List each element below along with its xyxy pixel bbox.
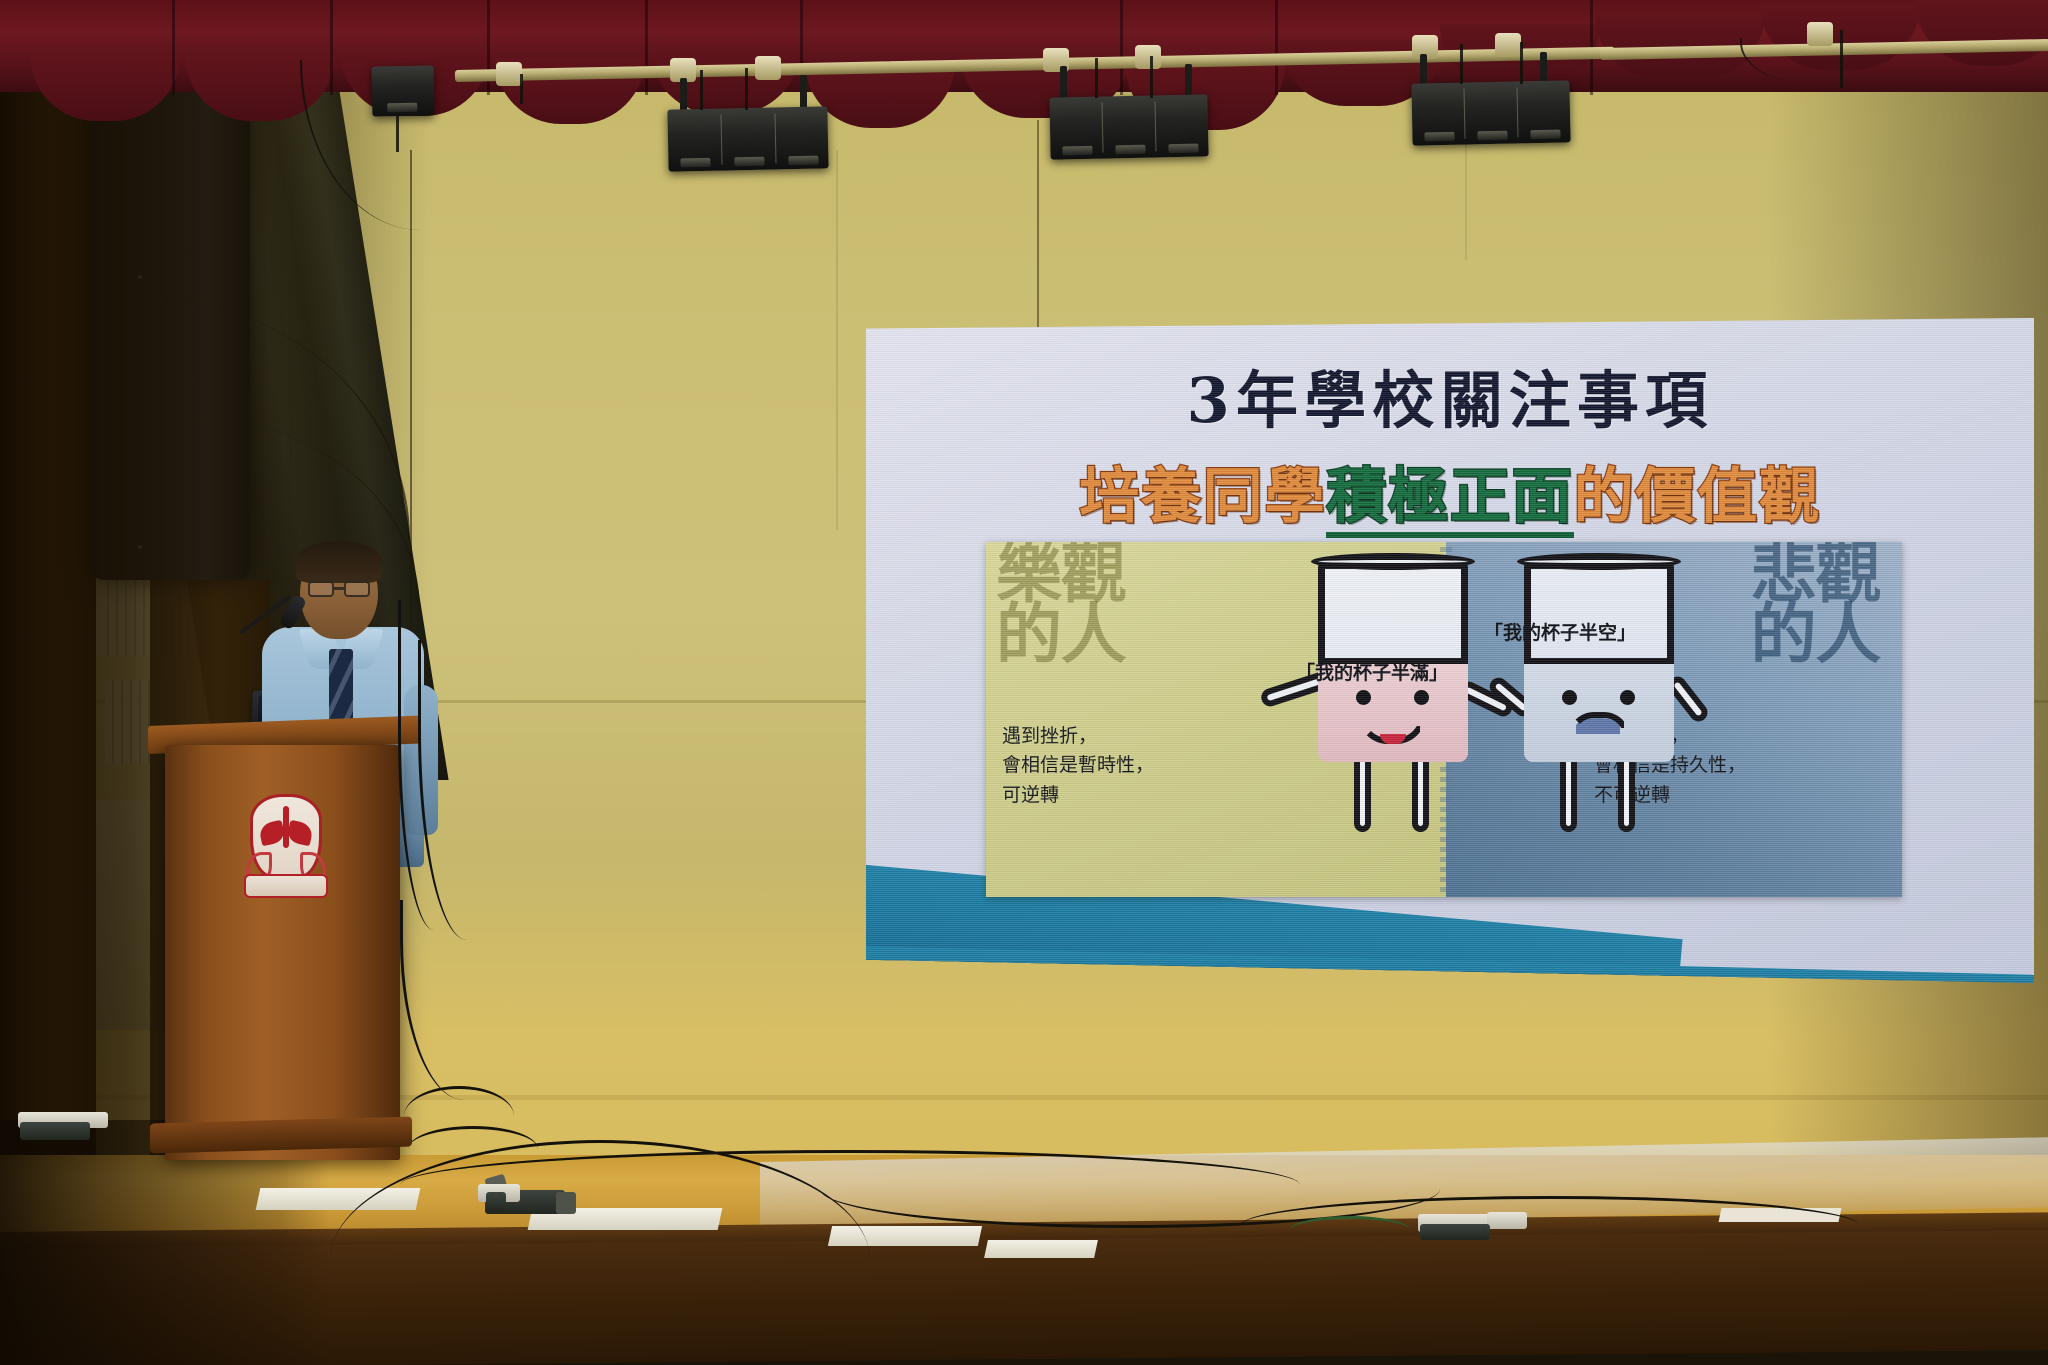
optimist-caption: 遇到挫折， 會相信是暫時性， 可逆轉 xyxy=(1002,722,1154,810)
slide-subtitle: 培養同學積極正面的價值觀 xyxy=(866,448,2034,535)
lecture-hall-photo: 3年學校關注事項 培養同學積極正面的價值觀 樂觀 的人 xyxy=(0,0,2048,1365)
glass-rim xyxy=(1311,553,1475,570)
subtitle-highlight: 積極正面 xyxy=(1326,462,1573,538)
optimist-caption-line3: 可逆轉 xyxy=(1002,781,1154,810)
optimist-glass-character: 「我的杯子半滿」 xyxy=(1318,562,1468,762)
optimist-quote: 「我的杯子半滿」 xyxy=(1296,658,1448,685)
equipment-box xyxy=(20,1122,90,1140)
water-line xyxy=(1524,658,1674,762)
optimist-caption-line1: 遇到挫折， xyxy=(1002,722,1154,751)
crest-phoenix-icon xyxy=(260,810,312,856)
pessimist-caption-line3: 不可逆轉 xyxy=(1594,781,1746,810)
slide-title: 3年學校關注事項 xyxy=(866,350,2034,440)
stage-light-fixture xyxy=(1049,94,1208,159)
eyeglasses xyxy=(308,581,334,597)
glass-leg-left xyxy=(1560,754,1577,832)
projection-screen: 3年學校關注事項 培養同學積極正面的價值觀 樂觀 的人 xyxy=(866,318,2034,983)
eyeglasses-bridge xyxy=(334,587,344,590)
glass-rim xyxy=(1517,553,1681,570)
stage-light-fixture xyxy=(1411,80,1570,145)
subtitle-part-1: 培養同學 xyxy=(1079,462,1326,532)
glass-leg-right xyxy=(1412,754,1429,832)
crest-motto-ribbon xyxy=(244,874,328,898)
optimist-pessimist-illustration: 樂觀 的人 悲觀 的人 遇到挫折， 會相信是暫時性， 可逆轉 遇到挫折， 會相信… xyxy=(986,542,1902,897)
presenter-hair xyxy=(296,541,382,583)
optimist-caption-line2: 會相信是暫時性， xyxy=(1002,751,1154,780)
glass-leg-left xyxy=(1354,754,1371,832)
floor-cable-green xyxy=(1290,1216,1410,1244)
eyeglasses xyxy=(344,581,370,597)
stage-light-fixture xyxy=(667,106,828,171)
microphone-cable xyxy=(404,1086,514,1146)
paper-on-floor xyxy=(984,1240,1098,1258)
glass-leg-right xyxy=(1618,754,1635,832)
subtitle-part-3: 的價值觀 xyxy=(1574,462,1821,532)
pessimist-quote: 「我的杯子半空」 xyxy=(1484,618,1636,645)
pessimist-glass-character: 「我的杯子半空」 xyxy=(1524,562,1674,762)
school-crest xyxy=(242,790,330,905)
